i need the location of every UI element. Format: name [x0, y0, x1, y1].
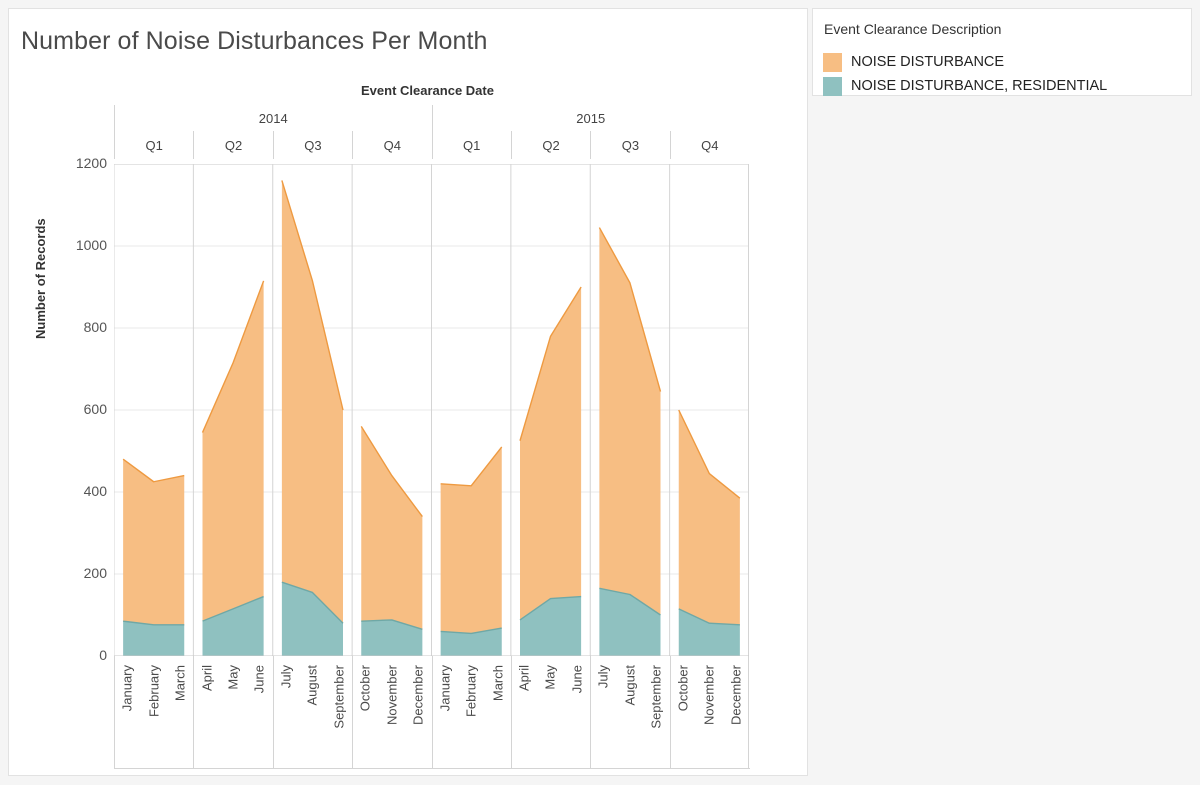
legend-title: Event Clearance Description	[824, 21, 1001, 37]
month-label-may-16: May	[543, 665, 558, 690]
month-cell: November	[696, 657, 722, 777]
stacked-area-chart-svg	[114, 164, 749, 656]
legend-swatch-icon	[823, 53, 842, 72]
y-tick-400: 400	[61, 483, 107, 499]
month-cell: April	[193, 657, 219, 777]
y-axis-tick-labels: 020040060080010001200	[57, 164, 107, 656]
y-tick-800: 800	[61, 319, 107, 335]
month-cell: January	[114, 657, 140, 777]
quarter-header-2015-Q3: Q3	[590, 131, 669, 159]
month-cell: December	[405, 657, 431, 777]
month-label-march-14: March	[490, 665, 505, 701]
month-cell: March	[167, 657, 193, 777]
page-title: Number of Noise Disturbances Per Month	[21, 27, 488, 56]
month-cell: March	[484, 657, 510, 777]
area-disturbance-q2	[282, 180, 343, 623]
area-disturbance-q4	[441, 447, 502, 634]
legend-item-0[interactable]: NOISE DISTURBANCE	[823, 50, 1185, 74]
month-label-may-4: May	[226, 665, 241, 690]
month-cell: August	[299, 657, 325, 777]
y-tick-0: 0	[61, 647, 107, 663]
month-cell: September	[643, 657, 669, 777]
month-cell: June	[246, 657, 272, 777]
month-label-april-3: April	[199, 665, 214, 691]
month-label-august-19: August	[622, 665, 637, 705]
quarter-header-row: Q1Q2Q3Q4Q1Q2Q3Q4	[114, 131, 749, 159]
area-residential-q0	[123, 621, 184, 656]
month-label-row: JanuaryFebruaryMarchAprilMayJuneJulyAugu…	[114, 657, 749, 777]
month-label-april-15: April	[517, 665, 532, 691]
y-tick-200: 200	[61, 565, 107, 581]
month-cell: June	[564, 657, 590, 777]
legend-item-label: NOISE DISTURBANCE	[851, 54, 1004, 70]
y-tick-1200: 1200	[61, 155, 107, 171]
month-label-january-12: January	[437, 665, 452, 711]
chart-panel: Number of Noise Disturbances Per Month E…	[8, 8, 808, 776]
month-label-august-7: August	[305, 665, 320, 705]
month-label-december-23: December	[728, 665, 743, 725]
month-label-december-11: December	[411, 665, 426, 725]
area-disturbance-q7	[679, 410, 740, 625]
area-disturbance-q1	[203, 281, 264, 621]
year-header-row: 20142015	[114, 105, 749, 131]
month-label-november-10: November	[384, 665, 399, 725]
month-label-june-17: June	[569, 665, 584, 693]
month-label-july-6: July	[278, 665, 293, 688]
quarter-header-2015-Q4: Q4	[670, 131, 749, 159]
month-cell: November	[379, 657, 405, 777]
y-axis-title: Number of Records	[33, 218, 48, 339]
quarter-header-2014-Q3: Q3	[273, 131, 352, 159]
month-cell: August	[617, 657, 643, 777]
month-cell: February	[140, 657, 166, 777]
month-cell: January	[431, 657, 457, 777]
month-label-november-22: November	[702, 665, 717, 725]
plot-area	[114, 164, 749, 656]
chart-application: Number of Noise Disturbances Per Month E…	[0, 0, 1200, 785]
quarter-header-2015-Q1: Q1	[432, 131, 511, 159]
month-cell: May	[537, 657, 563, 777]
year-header-2014: 2014	[114, 105, 432, 131]
month-cell: April	[511, 657, 537, 777]
column-axis-title: Event Clearance Date	[106, 83, 749, 98]
month-cell: September	[326, 657, 352, 777]
legend-item-label: NOISE DISTURBANCE, RESIDENTIAL	[851, 78, 1107, 94]
quarter-header-2014-Q2: Q2	[193, 131, 272, 159]
area-disturbance-q3	[361, 426, 422, 629]
legend-item-1[interactable]: NOISE DISTURBANCE, RESIDENTIAL	[823, 74, 1185, 98]
month-label-february-13: February	[464, 665, 479, 717]
y-tick-1000: 1000	[61, 237, 107, 253]
quarter-header-2015-Q2: Q2	[511, 131, 590, 159]
month-label-january-0: January	[120, 665, 135, 711]
month-label-june-5: June	[252, 665, 267, 693]
legend-swatch-icon	[823, 77, 842, 96]
month-cell: May	[220, 657, 246, 777]
legend-item-list: NOISE DISTURBANCENOISE DISTURBANCE, RESI…	[823, 50, 1185, 98]
month-cell: December	[722, 657, 748, 777]
month-label-february-1: February	[146, 665, 161, 717]
month-cell: October	[352, 657, 378, 777]
month-label-september-20: September	[649, 665, 664, 729]
month-cell: July	[590, 657, 616, 777]
area-disturbance-q0	[123, 459, 184, 625]
month-label-july-18: July	[596, 665, 611, 688]
legend-panel: Event Clearance Description NOISE DISTUR…	[812, 8, 1192, 96]
month-cell: July	[273, 657, 299, 777]
quarter-header-2014-Q4: Q4	[352, 131, 431, 159]
y-tick-600: 600	[61, 401, 107, 417]
month-label-october-9: October	[358, 665, 373, 711]
month-label-september-8: September	[331, 665, 346, 729]
year-header-2015: 2015	[432, 105, 750, 131]
month-label-march-2: March	[173, 665, 188, 701]
month-label-october-21: October	[675, 665, 690, 711]
month-cell: October	[670, 657, 696, 777]
area-disturbance-q6	[599, 228, 660, 615]
quarter-header-2014-Q1: Q1	[114, 131, 193, 159]
month-cell: February	[458, 657, 484, 777]
